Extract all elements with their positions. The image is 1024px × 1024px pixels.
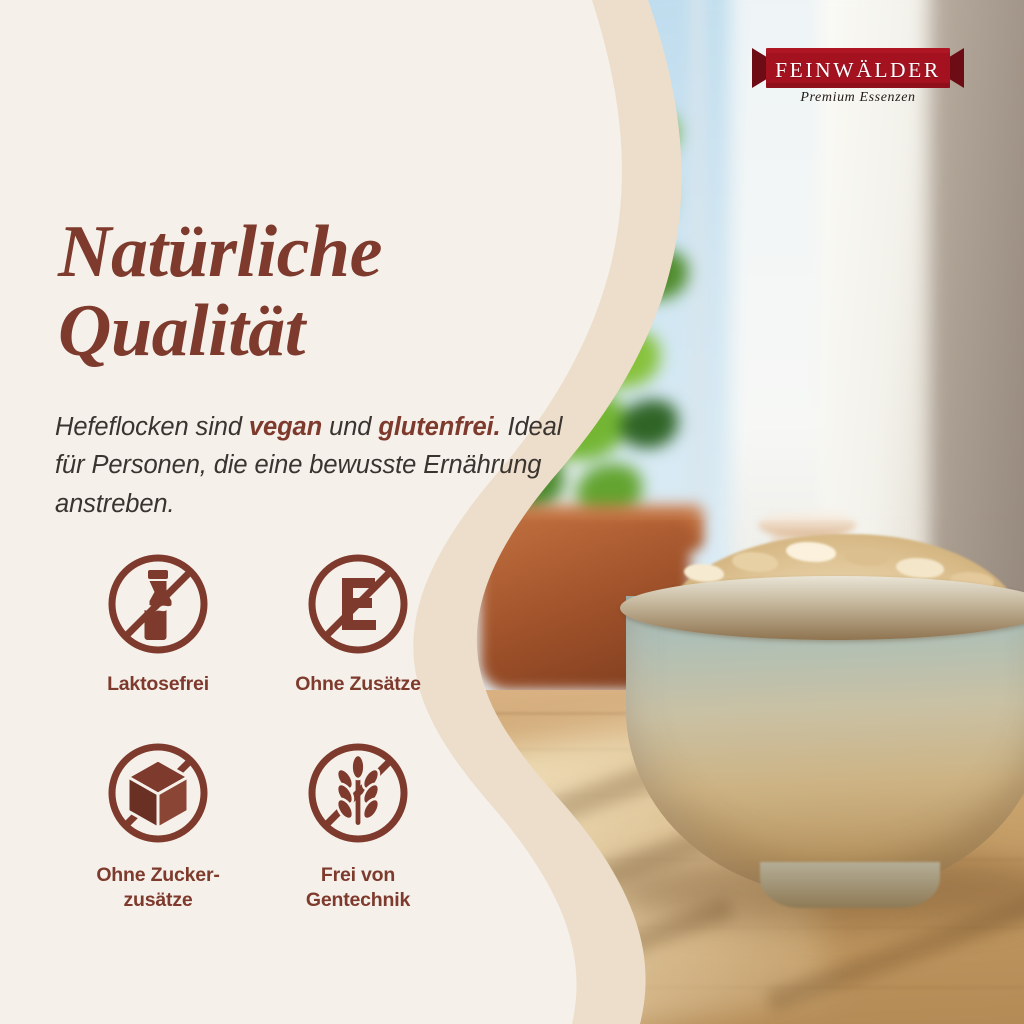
page-title: Natürliche Qualität [58,213,528,371]
body-bold-vegan: vegan [249,413,322,441]
badge-lactose-free[interactable]: Laktosefrei [58,548,258,697]
body-text: Hefeflocken sind vegan und glutenfrei. I… [55,408,575,524]
badge-label: Ohne Zusätze [295,672,420,697]
feature-badges: Laktosefrei Ohne Zusätze [58,548,458,913]
badge-row-1: Laktosefrei Ohne Zusätze [58,548,458,697]
badge-label-line-1: Frei von [321,864,395,886]
badge-no-added-sugar[interactable]: Ohne Zucker-zusätze [58,737,258,913]
no-e-number-icon [302,548,414,660]
promo-banner: FEINWÄLDER Premium Essenzen Natürliche Q… [0,0,1024,1024]
body-part-2: und [322,413,378,441]
badge-label: Frei vonGentechnik [306,863,410,913]
badge-no-additives[interactable]: Ohne Zusätze [258,548,458,697]
brand-name: FEINWÄLDER [752,52,964,88]
no-wheat-icon [302,737,414,849]
badge-label-line-2: zusätze [123,889,192,911]
badge-label-line-2: Gentechnik [306,889,410,911]
headline-line-2: Qualität [58,292,528,371]
badge-row-2: Ohne Zucker-zusätze [58,737,458,913]
brand-tagline: Premium Essenzen [752,90,964,106]
body-part-1: Hefeflocken sind [55,413,249,441]
headline-line-1: Natürliche [58,211,382,293]
badge-label-line-1: Ohne Zucker- [96,864,219,886]
no-bottle-icon [102,548,214,660]
badge-non-gmo[interactable]: Frei vonGentechnik [258,737,458,913]
no-sugar-cube-icon [102,737,214,849]
badge-label: Laktosefrei [107,672,209,697]
brand-logo[interactable]: FEINWÄLDER Premium Essenzen [752,46,964,116]
badge-label: Ohne Zucker-zusätze [96,863,219,913]
body-bold-glutenfree: glutenfrei. [378,413,500,441]
